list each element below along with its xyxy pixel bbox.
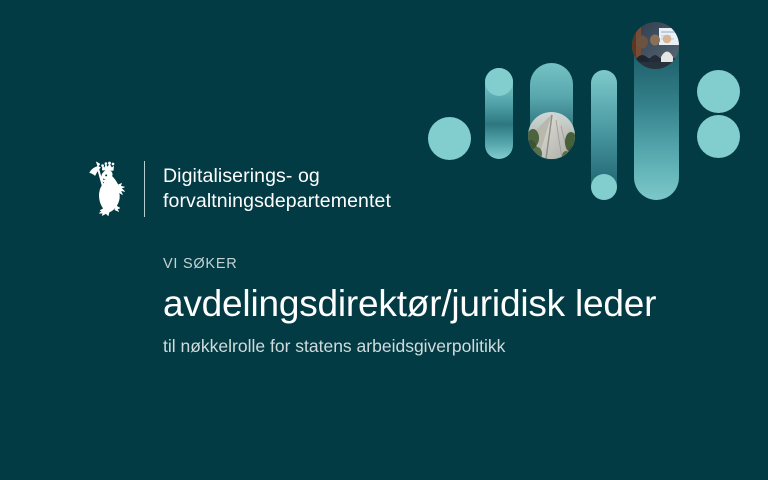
recruitment-banner: Digitaliserings- og forvaltningsdepartem… [0,0,768,480]
decor-circle-solid-1 [428,117,471,160]
headline-block: VI SØKER avdelingsdirektør/juridisk lede… [163,256,656,358]
norwegian-coat-of-arms-icon [86,158,130,220]
ministry-logo: Digitaliserings- og forvaltningsdepartem… [86,158,391,220]
decor-pill-2-cap [485,68,513,96]
decor-pill-gradient-3 [530,63,573,160]
decor-pill-gradient-5 [634,25,679,200]
job-subtitle: til nøkkelrolle for statens arbeidsgiver… [163,335,656,358]
decor-circle-solid-7 [697,115,740,158]
photo-meeting [632,22,679,69]
job-title: avdelingsdirektør/juridisk leder [163,283,656,324]
photo-architecture [528,112,575,159]
decor-circle-solid-6 [697,70,740,113]
ministry-name-line-2: forvaltningsdepartementet [163,189,391,214]
ministry-name: Digitaliserings- og forvaltningsdepartem… [163,164,391,214]
decor-pill-gradient-2 [485,68,513,159]
decor-pill-gradient-4 [591,70,617,200]
eyebrow-label: VI SØKER [163,256,656,273]
decor-pill-4-cap [591,174,617,200]
ministry-name-line-1: Digitaliserings- og [163,164,391,189]
logo-divider [144,161,145,217]
